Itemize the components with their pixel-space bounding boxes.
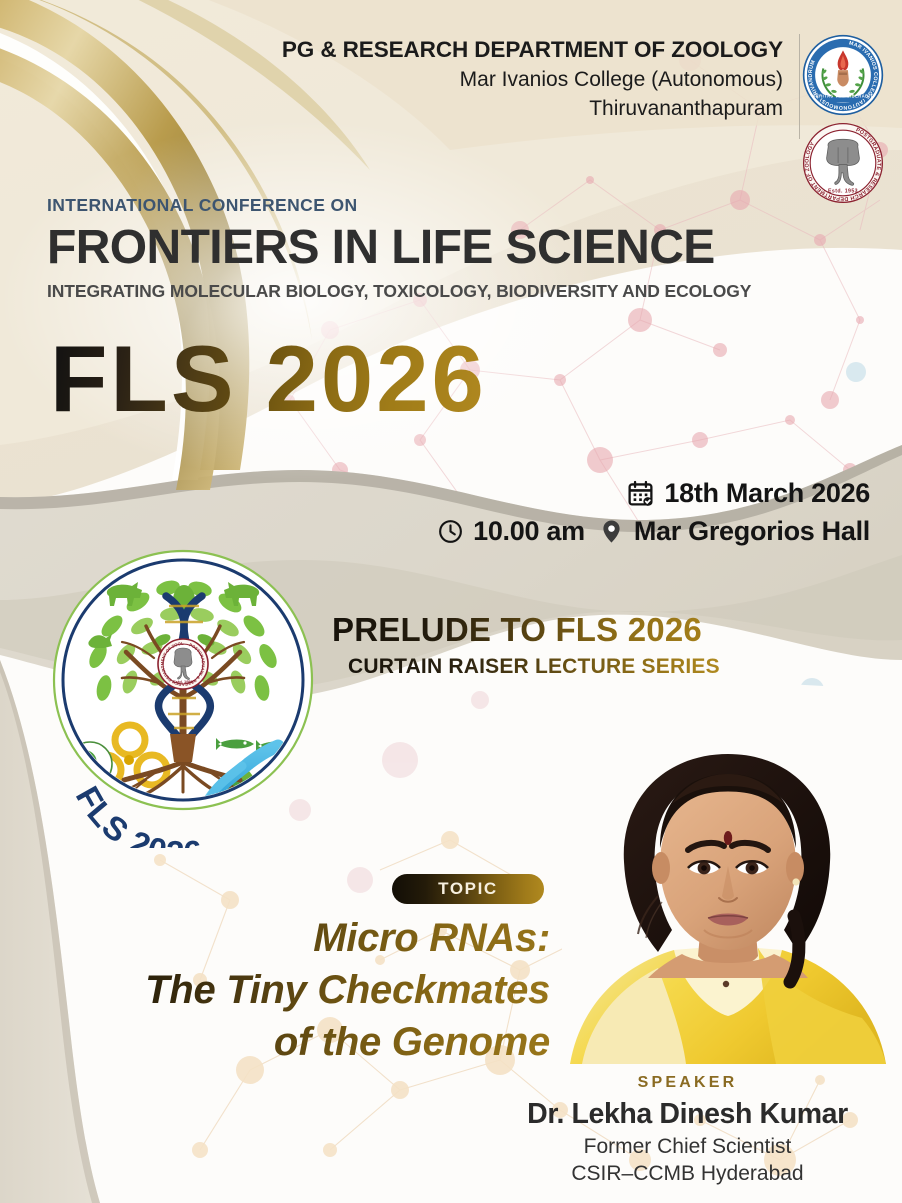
topic-line-1: Micro RNAs: <box>30 912 550 964</box>
zoology-department-crest-icon: POSTGRADUATE & RESEARCH DEPARTMENT OF ZO… <box>802 122 884 204</box>
topic-title: Micro RNAs: The Tiny Checkmates of the G… <box>30 912 550 1068</box>
topic-badge-label: TOPIC <box>438 879 498 899</box>
location-pin-icon <box>598 518 625 545</box>
mar-ivanios-college-crest-icon: MAR IVANIOS COLLEGE (AUTONOMOUS) TRIVAND… <box>802 34 884 116</box>
prelude-block: PRELUDE TO FLS 2026 CURTAIN RAISER LECTU… <box>332 612 720 679</box>
speaker-organisation: CSIR–CCMB Hyderabad <box>480 1160 895 1187</box>
event-time: 10.00 am <box>473 516 585 547</box>
event-details: 18th March 2026 10.00 am Mar Gregorios H… <box>437 478 870 554</box>
speaker-label: SPEAKER <box>480 1074 895 1092</box>
event-date-row: 18th March 2026 <box>437 478 870 509</box>
event-date: 18th March 2026 <box>664 478 870 509</box>
svg-text:Estd. 1953: Estd. 1953 <box>173 679 194 684</box>
conference-poster: PG & RESEARCH DEPARTMENT OF ZOOLOGY Mar … <box>0 0 902 1203</box>
prelude-subheading: CURTAIN RAISER LECTURE SERIES <box>348 654 720 679</box>
crest-group: MAR IVANIOS COLLEGE (AUTONOMOUS) TRIVAND… <box>802 34 884 204</box>
department-name: PG & RESEARCH DEPARTMENT OF ZOOLOGY <box>282 36 783 63</box>
conference-kicker: INTERNATIONAL CONFERENCE ON <box>47 196 857 215</box>
poster-header: PG & RESEARCH DEPARTMENT OF ZOOLOGY Mar … <box>0 34 902 149</box>
svg-text:VERITAS VOS LIBERABIT: VERITAS VOS LIBERABIT <box>813 94 874 99</box>
prelude-heading: PRELUDE TO FLS 2026 <box>332 612 720 649</box>
conference-title-block: INTERNATIONAL CONFERENCE ON FRONTIERS IN… <box>47 196 857 301</box>
event-time-venue-row: 10.00 am Mar Gregorios Hall <box>437 516 870 547</box>
topic-badge: TOPIC <box>392 874 544 904</box>
fls-wordmark: FLS 2026 <box>50 332 487 426</box>
speaker-photo <box>562 716 894 1064</box>
fls-2026-logo: POSTGRADUATE & RESEARCH DEPARTMENT OF ZO… <box>42 548 324 848</box>
conference-subtitle: INTEGRATING MOLECULAR BIOLOGY, TOXICOLOG… <box>47 282 857 301</box>
topic-line-2: The Tiny Checkmates <box>30 964 550 1016</box>
college-name: Mar Ivanios College (Autonomous) <box>282 66 783 95</box>
svg-text:• Estd. 1953 •: • Estd. 1953 • <box>824 189 862 195</box>
clock-icon <box>437 518 464 545</box>
speaker-name: Dr. Lekha Dinesh Kumar <box>480 1098 895 1131</box>
event-venue: Mar Gregorios Hall <box>634 516 870 547</box>
speaker-role: Former Chief Scientist <box>480 1133 895 1160</box>
topic-line-3: of the Genome <box>30 1016 550 1068</box>
institution-block: PG & RESEARCH DEPARTMENT OF ZOOLOGY Mar … <box>282 34 800 139</box>
college-city: Thiruvananthapuram <box>282 95 783 124</box>
speaker-details: SPEAKER Dr. Lekha Dinesh Kumar Former Ch… <box>480 1074 895 1187</box>
conference-title: FRONTIERS IN LIFE SCIENCE <box>47 221 857 275</box>
calendar-icon <box>626 479 655 508</box>
